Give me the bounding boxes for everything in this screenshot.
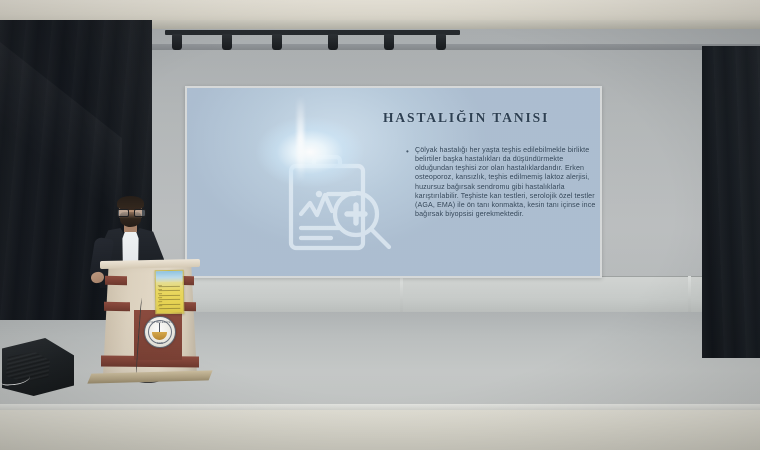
glare-streak (297, 96, 304, 182)
presentation-photo: HASTALIĞIN TANISI • Çölyak hastalığı her… (0, 0, 760, 450)
stage-light-icon (272, 34, 282, 50)
wall-wainscot (150, 276, 760, 315)
municipal-seal-icon: BAYAT BELEDİYESİ 1975 (144, 316, 176, 348)
projection-screen: HASTALIĞIN TANISI • Çölyak hastalığı her… (187, 88, 600, 276)
podium-trim-band (105, 276, 127, 285)
stage-light-icon (436, 34, 446, 50)
stage-light-icon (328, 34, 338, 50)
slide-body-paragraph: Çölyak hastalığı her yaşta teşhis edileb… (415, 146, 595, 218)
presenter-hair (117, 196, 144, 210)
glasses-icon (117, 209, 144, 215)
wainscot-seam (688, 276, 691, 314)
lighting-rail (165, 30, 460, 35)
slide-body-text: • Çölyak hastalığı her yaşta teşhis edil… (415, 146, 600, 219)
slide-title: HASTALIĞIN TANISI (383, 110, 549, 126)
seal-year: 1975 (145, 342, 175, 345)
podium-poster (155, 270, 185, 314)
wainscot-seam (400, 276, 403, 314)
stage-light-icon (172, 34, 182, 50)
projection-screen-frame: HASTALIĞIN TANISI • Çölyak hastalığı her… (185, 86, 602, 278)
bullet-marker: • (406, 148, 409, 156)
podium-base-plank (87, 370, 212, 383)
stage-apron (0, 410, 760, 450)
podium-trim-band (104, 302, 130, 311)
stage-light-icon (222, 34, 232, 50)
stage-curtain-right (702, 46, 760, 358)
podium: BAYAT BELEDİYESİ 1975 (98, 264, 202, 386)
stage-light-icon (384, 34, 394, 50)
